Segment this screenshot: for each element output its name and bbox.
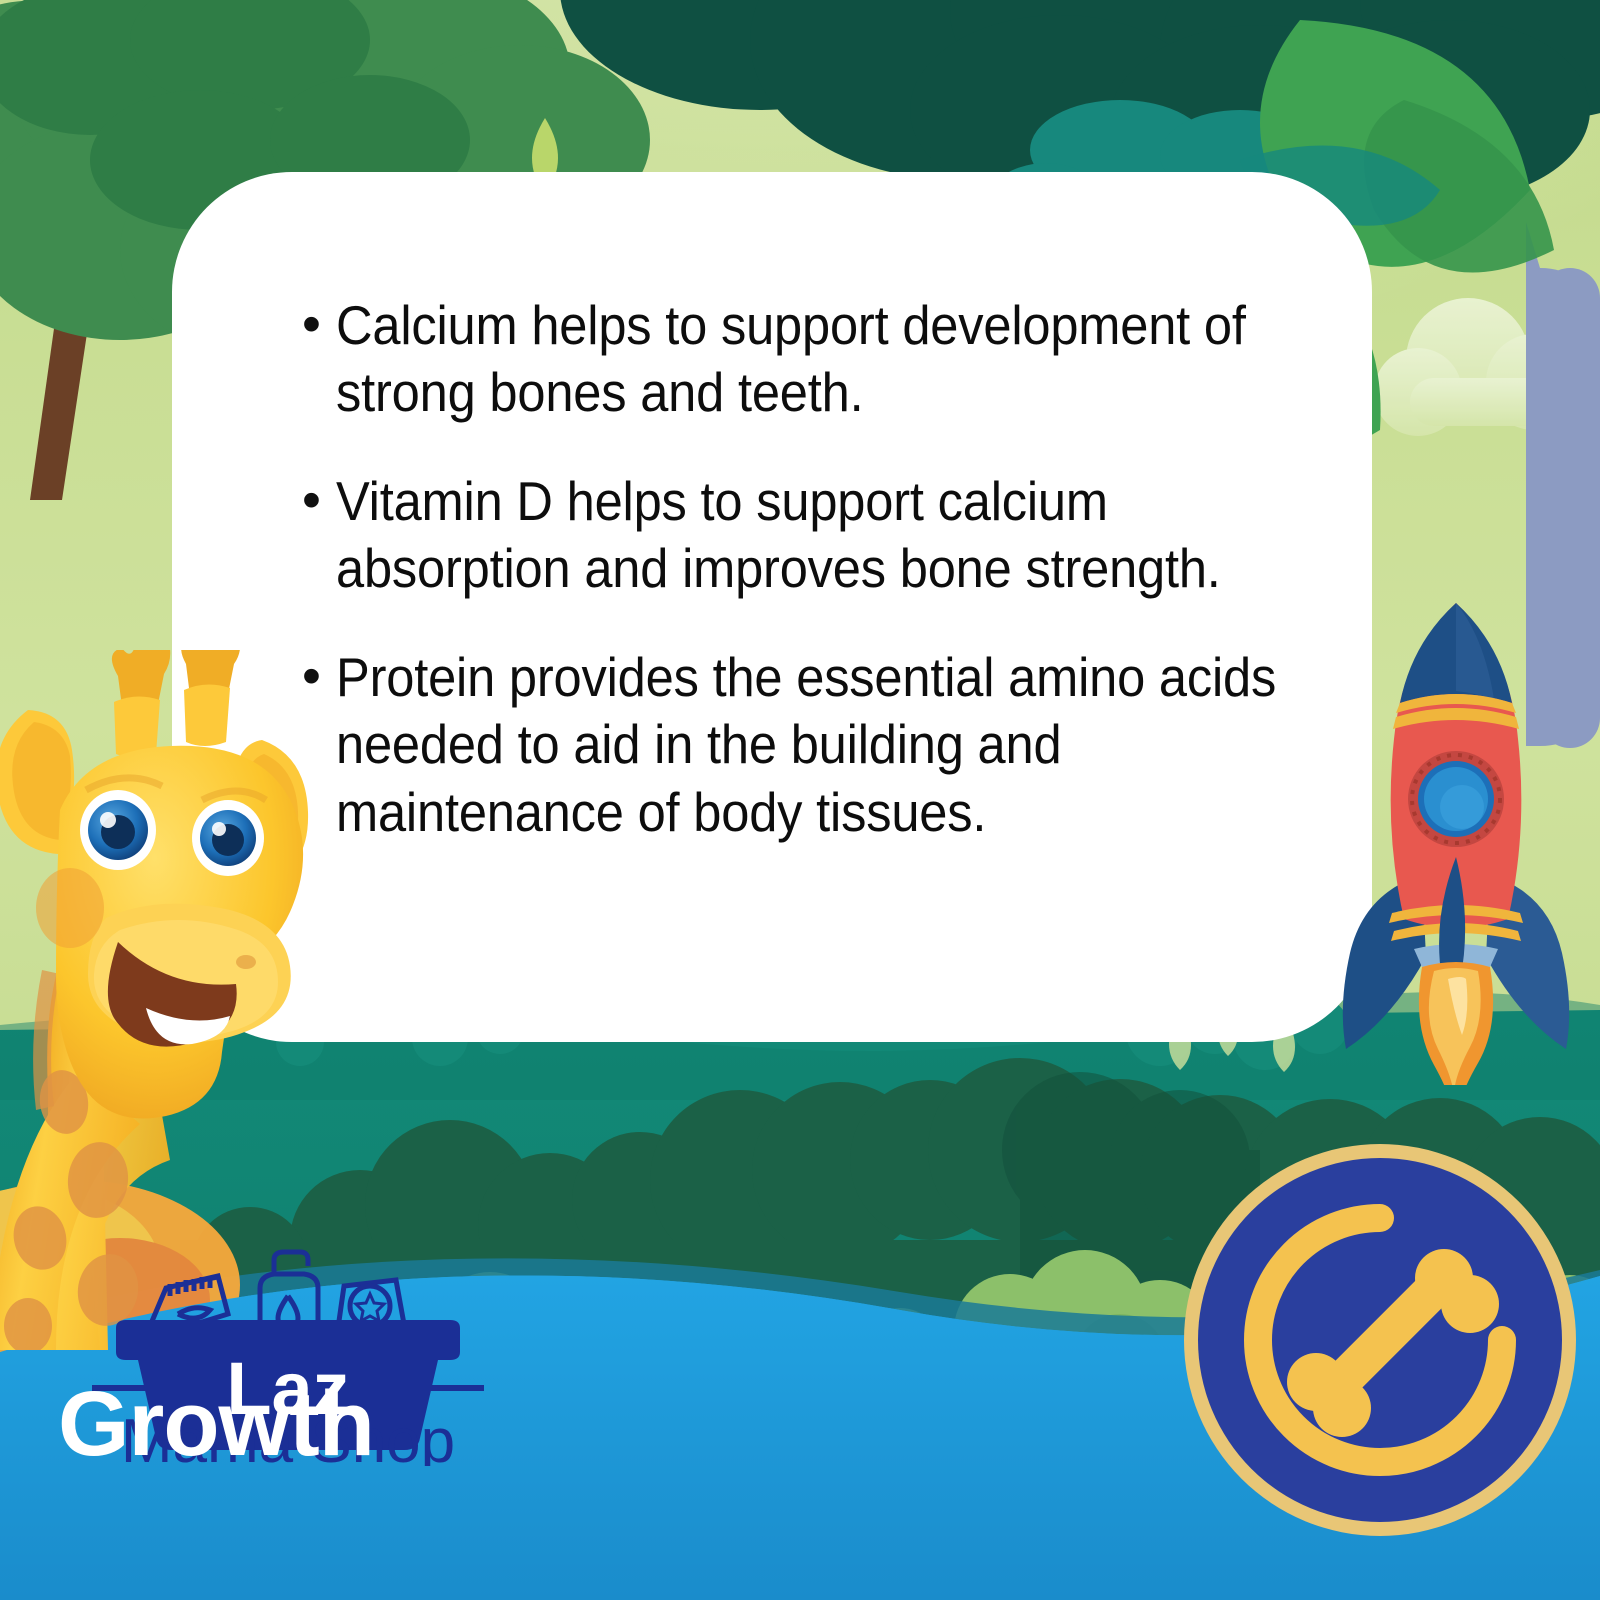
benefits-list: • Calcium helps to support development o… (302, 292, 1362, 888)
poster-canvas: • Calcium helps to support development o… (0, 0, 1600, 1600)
bullet-marker-icon: • (302, 292, 336, 358)
list-item: • Protein provides the essential amino a… (302, 644, 1362, 845)
benefit-text-protein: Protein provides the essential amino aci… (336, 644, 1280, 845)
growth-wordmark: Growth (58, 1378, 374, 1470)
benefit-text-calcium: Calcium helps to support development of … (336, 292, 1280, 426)
giraffe-cheek (36, 868, 104, 948)
giraffe-ossicones (112, 650, 240, 758)
list-item: • Vitamin D helps to support calcium abs… (302, 468, 1362, 602)
giraffe-eye-left (80, 790, 156, 870)
bone-badge (1180, 1140, 1580, 1540)
benefit-text-vitamin-d: Vitamin D helps to support calcium absor… (336, 468, 1280, 602)
bullet-marker-icon: • (302, 468, 336, 534)
list-item: • Calcium helps to support development o… (302, 292, 1362, 426)
rocket-icon (1330, 585, 1580, 1085)
giraffe-eye-right (192, 800, 264, 876)
info-card: • Calcium helps to support development o… (172, 172, 1372, 1042)
